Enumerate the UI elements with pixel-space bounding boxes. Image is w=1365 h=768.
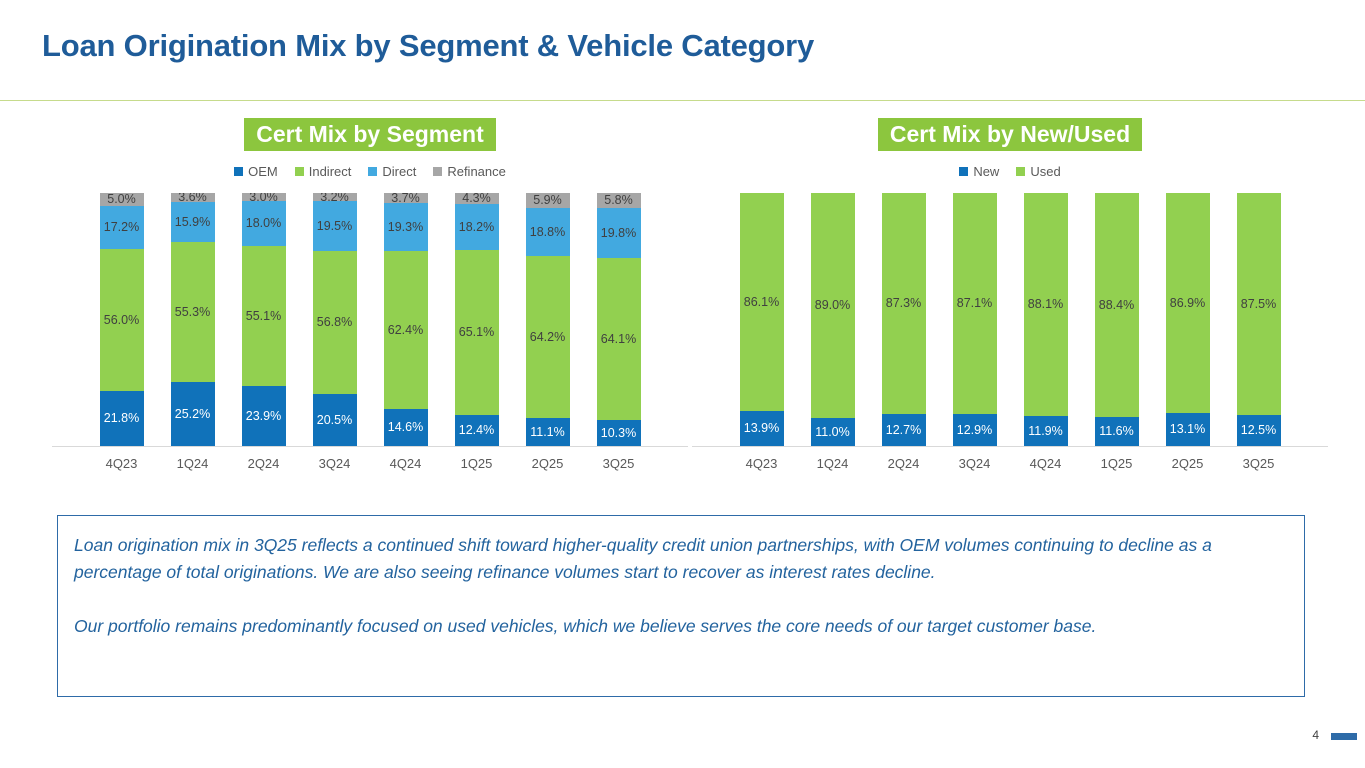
bar-segment-value-label: 15.9%: [175, 216, 210, 229]
bar-segment-value-label: 88.1%: [1028, 298, 1063, 311]
chart-title-row: Cert Mix by New/Used: [700, 118, 1320, 151]
chart-title-banner: Cert Mix by Segment: [244, 118, 496, 151]
bar-segment-new[interactable]: 12.9%: [953, 414, 997, 447]
commentary-paragraph-1: Loan origination mix in 3Q25 reflects a …: [74, 532, 1286, 587]
bar-column[interactable]: 4.3%18.2%65.1%12.4%: [455, 193, 499, 446]
bar-segment-value-label: 12.9%: [957, 424, 992, 437]
x-axis-category-labels: 4Q231Q242Q243Q244Q241Q252Q253Q25: [60, 456, 680, 471]
chart-title-row: Cert Mix by Segment: [60, 118, 680, 151]
bar-segment-new[interactable]: 11.9%: [1024, 416, 1068, 446]
bar-segment-value-label: 10.3%: [601, 427, 636, 440]
bar-segment-oem[interactable]: 25.2%: [171, 382, 215, 446]
bar-segment-value-label: 5.0%: [107, 193, 136, 206]
x-axis-label: 3Q25: [1237, 456, 1281, 471]
bar-segment-value-label: 3.2%: [320, 193, 349, 201]
bar-segment-refinance[interactable]: 3.2%: [313, 193, 357, 201]
bar-column[interactable]: 3.0%18.0%55.1%23.9%: [242, 193, 286, 446]
bar-segment-value-label: 64.1%: [601, 333, 636, 346]
bar-column[interactable]: 5.0%17.2%56.0%21.8%: [100, 193, 144, 446]
bar-segment-value-label: 14.6%: [388, 421, 423, 434]
bar-segment-refinance[interactable]: 5.9%: [526, 193, 570, 208]
legend-label: Direct: [382, 164, 416, 179]
bar-segment-value-label: 11.9%: [1028, 425, 1063, 438]
bar-segment-value-label: 11.6%: [1099, 425, 1134, 438]
bar-segment-indirect[interactable]: 56.0%: [100, 249, 144, 391]
bar-segment-refinance[interactable]: 5.0%: [100, 193, 144, 206]
bar-column[interactable]: 3.2%19.5%56.8%20.5%: [313, 193, 357, 446]
bar-segment-value-label: 11.1%: [530, 426, 565, 439]
footer-accent-bar: [1331, 733, 1357, 740]
bar-segment-value-label: 17.2%: [104, 221, 139, 234]
bar-segment-value-label: 62.4%: [388, 324, 423, 337]
legend-item-refinance[interactable]: Refinance: [433, 164, 506, 179]
bar-segment-direct[interactable]: 18.8%: [526, 208, 570, 256]
legend-item-new[interactable]: New: [959, 164, 999, 179]
bar-segment-oem[interactable]: 11.1%: [526, 418, 570, 446]
x-axis-label: 4Q24: [1024, 456, 1068, 471]
bar-segment-refinance[interactable]: 3.0%: [242, 193, 286, 201]
bar-segment-value-label: 18.8%: [530, 226, 565, 239]
x-axis-label: 4Q23: [740, 456, 784, 471]
plot-area: 86.1%13.9%89.0%11.0%87.3%12.7%87.1%12.9%…: [700, 193, 1320, 446]
x-axis-label: 1Q24: [811, 456, 855, 471]
bar-segment-value-label: 11.0%: [815, 426, 850, 439]
bar-segment-value-label: 86.1%: [744, 296, 779, 309]
chart-legend: NewUsed: [700, 163, 1320, 179]
x-axis-label: 4Q24: [384, 456, 428, 471]
bar-segment-oem[interactable]: 14.6%: [384, 409, 428, 446]
bar-segment-used[interactable]: 88.4%: [1095, 193, 1139, 417]
bar-segment-used[interactable]: 87.5%: [1237, 193, 1281, 414]
bar-segment-indirect[interactable]: 55.1%: [242, 246, 286, 385]
legend-label: Refinance: [447, 164, 506, 179]
bar-segment-used[interactable]: 86.1%: [740, 193, 784, 411]
x-axis-label: 3Q25: [597, 456, 641, 471]
x-axis-label: 2Q25: [526, 456, 570, 471]
bar-segment-value-label: 5.8%: [604, 194, 633, 207]
bar-segment-refinance[interactable]: 4.3%: [455, 193, 499, 204]
bar-segment-value-label: 12.5%: [1241, 424, 1276, 437]
bar-segment-indirect[interactable]: 56.8%: [313, 251, 357, 395]
bar-segment-value-label: 87.3%: [886, 297, 921, 310]
bar-segment-used[interactable]: 89.0%: [811, 193, 855, 418]
bar-segment-oem[interactable]: 23.9%: [242, 386, 286, 446]
bar-segment-value-label: 56.8%: [317, 316, 352, 329]
bar-segment-value-label: 18.0%: [246, 217, 281, 230]
bar-segment-value-label: 23.9%: [246, 410, 281, 423]
bar-segment-value-label: 13.9%: [744, 422, 779, 435]
bar-segment-value-label: 3.6%: [178, 193, 207, 202]
bar-segment-new[interactable]: 12.5%: [1237, 415, 1281, 447]
bar-segment-oem[interactable]: 21.8%: [100, 391, 144, 446]
x-axis-label: 2Q24: [882, 456, 926, 471]
bar-column[interactable]: 88.1%11.9%: [1024, 193, 1068, 446]
bar-segment-value-label: 55.1%: [246, 310, 281, 323]
legend-swatch-icon: [234, 167, 243, 176]
commentary-box: Loan origination mix in 3Q25 reflects a …: [57, 515, 1305, 697]
page-title: Loan Origination Mix by Segment & Vehicl…: [42, 28, 814, 64]
legend-label: Used: [1030, 164, 1060, 179]
bar-segment-value-label: 21.8%: [104, 412, 139, 425]
chart-title-banner: Cert Mix by New/Used: [878, 118, 1142, 151]
bar-segment-oem[interactable]: 20.5%: [313, 394, 357, 446]
bar-segment-value-label: 12.7%: [886, 424, 921, 437]
bar-segment-new[interactable]: 13.9%: [740, 411, 784, 446]
page-number: 4: [1312, 728, 1319, 742]
x-axis-label: 2Q24: [242, 456, 286, 471]
legend-item-oem[interactable]: OEM: [234, 164, 278, 179]
bar-segment-value-label: 55.3%: [175, 306, 210, 319]
bar-group: 5.0%17.2%56.0%21.8%3.6%15.9%55.3%25.2%3.…: [60, 193, 680, 446]
x-axis-line: [692, 446, 1328, 447]
legend-label: Indirect: [309, 164, 352, 179]
bar-segment-oem[interactable]: 10.3%: [597, 420, 641, 446]
bar-column[interactable]: 87.1%12.9%: [953, 193, 997, 446]
bar-segment-used[interactable]: 87.3%: [882, 193, 926, 414]
bar-column[interactable]: 87.5%12.5%: [1237, 193, 1281, 446]
title-divider: [0, 100, 1365, 101]
bar-column[interactable]: 86.9%13.1%: [1166, 193, 1210, 446]
bar-segment-value-label: 65.1%: [459, 326, 494, 339]
legend-label: OEM: [248, 164, 278, 179]
x-axis-label: 1Q25: [1095, 456, 1139, 471]
bar-segment-used[interactable]: 88.1%: [1024, 193, 1068, 416]
bar-segment-direct[interactable]: 19.3%: [384, 203, 428, 252]
bar-segment-value-label: 5.9%: [533, 194, 562, 207]
bar-segment-direct[interactable]: 19.5%: [313, 201, 357, 250]
x-axis-label: 4Q23: [100, 456, 144, 471]
x-axis-label: 1Q24: [171, 456, 215, 471]
legend-label: New: [973, 164, 999, 179]
legend-swatch-icon: [959, 167, 968, 176]
bar-segment-value-label: 64.2%: [530, 331, 565, 344]
x-axis-label: 2Q25: [1166, 456, 1210, 471]
bar-segment-indirect[interactable]: 55.3%: [171, 242, 215, 382]
legend-swatch-icon: [295, 167, 304, 176]
legend-item-direct[interactable]: Direct: [368, 164, 416, 179]
x-axis-label: 3Q24: [313, 456, 357, 471]
bar-segment-value-label: 19.5%: [317, 220, 352, 233]
chart-cert-mix-by-segment: Cert Mix by Segment OEMIndirectDirectRef…: [60, 118, 680, 471]
bar-segment-value-label: 3.0%: [249, 193, 278, 201]
bar-segment-value-label: 86.9%: [1170, 297, 1205, 310]
bar-column[interactable]: 3.7%19.3%62.4%14.6%: [384, 193, 428, 446]
bar-segment-direct[interactable]: 19.8%: [597, 208, 641, 258]
bar-segment-indirect[interactable]: 65.1%: [455, 250, 499, 415]
bar-segment-indirect[interactable]: 64.2%: [526, 256, 570, 418]
bar-segment-value-label: 4.3%: [462, 193, 491, 204]
legend-swatch-icon: [368, 167, 377, 176]
bar-segment-value-label: 88.4%: [1099, 299, 1134, 312]
bar-segment-direct[interactable]: 17.2%: [100, 206, 144, 250]
bar-column[interactable]: 89.0%11.0%: [811, 193, 855, 446]
bar-column[interactable]: 3.6%15.9%55.3%25.2%: [171, 193, 215, 446]
bar-column[interactable]: 5.8%19.8%64.1%10.3%: [597, 193, 641, 446]
chart-legend: OEMIndirectDirectRefinance: [60, 163, 680, 179]
bar-segment-direct[interactable]: 15.9%: [171, 202, 215, 242]
bar-segment-value-label: 89.0%: [815, 299, 850, 312]
bar-segment-value-label: 25.2%: [175, 408, 210, 421]
bar-segment-value-label: 20.5%: [317, 414, 352, 427]
legend-item-used[interactable]: Used: [1016, 164, 1060, 179]
bar-segment-new[interactable]: 11.6%: [1095, 417, 1139, 446]
bar-segment-refinance[interactable]: 3.6%: [171, 193, 215, 202]
bar-segment-value-label: 18.2%: [459, 221, 494, 234]
bar-group: 86.1%13.9%89.0%11.0%87.3%12.7%87.1%12.9%…: [700, 193, 1320, 446]
bar-segment-value-label: 87.5%: [1241, 298, 1276, 311]
bar-segment-direct[interactable]: 18.0%: [242, 201, 286, 247]
legend-item-indirect[interactable]: Indirect: [295, 164, 352, 179]
bar-segment-indirect[interactable]: 62.4%: [384, 251, 428, 409]
bar-segment-indirect[interactable]: 64.1%: [597, 258, 641, 420]
bar-segment-value-label: 12.4%: [459, 424, 494, 437]
bar-segment-value-label: 56.0%: [104, 314, 139, 327]
bar-segment-used[interactable]: 86.9%: [1166, 193, 1210, 413]
bar-segment-oem[interactable]: 12.4%: [455, 415, 499, 446]
bar-segment-new[interactable]: 13.1%: [1166, 413, 1210, 446]
bar-segment-value-label: 13.1%: [1170, 423, 1205, 436]
bar-segment-refinance[interactable]: 3.7%: [384, 193, 428, 202]
x-axis-label: 3Q24: [953, 456, 997, 471]
x-axis-line: [52, 446, 688, 447]
bar-segment-value-label: 19.8%: [601, 227, 636, 240]
commentary-paragraph-2: Our portfolio remains predominantly focu…: [74, 613, 1286, 640]
bar-segment-value-label: 19.3%: [388, 221, 423, 234]
bar-segment-new[interactable]: 11.0%: [811, 418, 855, 446]
bar-segment-refinance[interactable]: 5.8%: [597, 193, 641, 208]
bar-segment-value-label: 3.7%: [391, 193, 420, 202]
x-axis-category-labels: 4Q231Q242Q243Q244Q241Q252Q253Q25: [700, 456, 1320, 471]
bar-column[interactable]: 88.4%11.6%: [1095, 193, 1139, 446]
bar-segment-direct[interactable]: 18.2%: [455, 204, 499, 250]
chart-cert-mix-by-new-used: Cert Mix by New/Used NewUsed 86.1%13.9%8…: [700, 118, 1320, 471]
bar-segment-value-label: 87.1%: [957, 297, 992, 310]
x-axis-label: 1Q25: [455, 456, 499, 471]
bar-column[interactable]: 87.3%12.7%: [882, 193, 926, 446]
legend-swatch-icon: [433, 167, 442, 176]
plot-area: 5.0%17.2%56.0%21.8%3.6%15.9%55.3%25.2%3.…: [60, 193, 680, 446]
bar-segment-new[interactable]: 12.7%: [882, 414, 926, 446]
bar-column[interactable]: 5.9%18.8%64.2%11.1%: [526, 193, 570, 446]
legend-swatch-icon: [1016, 167, 1025, 176]
bar-segment-used[interactable]: 87.1%: [953, 193, 997, 413]
bar-column[interactable]: 86.1%13.9%: [740, 193, 784, 446]
